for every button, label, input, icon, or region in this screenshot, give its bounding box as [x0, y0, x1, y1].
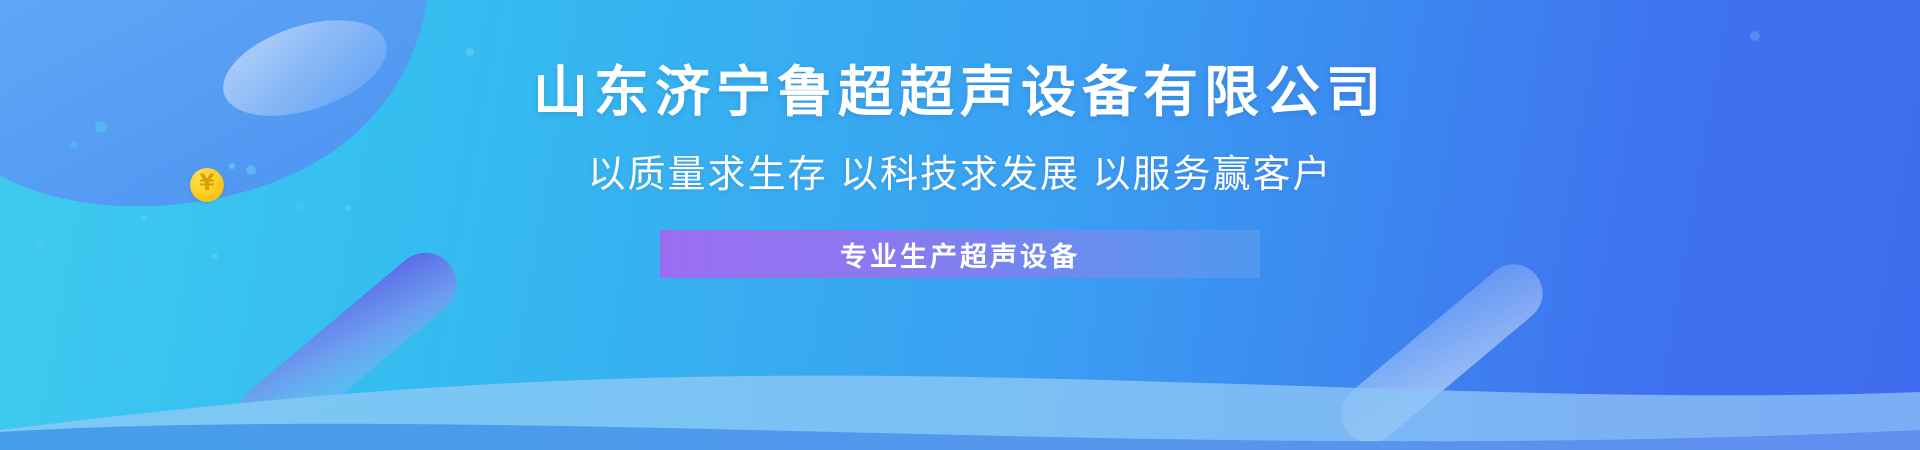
- company-slogan: 以质量求生存 以科技求发展 以服务赢客户: [587, 155, 1332, 197]
- cta-bar[interactable]: 专业生产超声设备: [660, 230, 1260, 278]
- company-title: 山东济宁鲁超超声设备有限公司: [533, 62, 1387, 123]
- promo-banner: ¥ 山东济宁鲁超超声设备有限公司 以质量求生存 以科技求发展 以服务赢客户 专业…: [0, 0, 1920, 450]
- cta-label: 专业生产超声设备: [840, 235, 1080, 274]
- banner-content: 山东济宁鲁超超声设备有限公司 以质量求生存 以科技求发展 以服务赢客户 专业生产…: [0, 0, 1920, 450]
